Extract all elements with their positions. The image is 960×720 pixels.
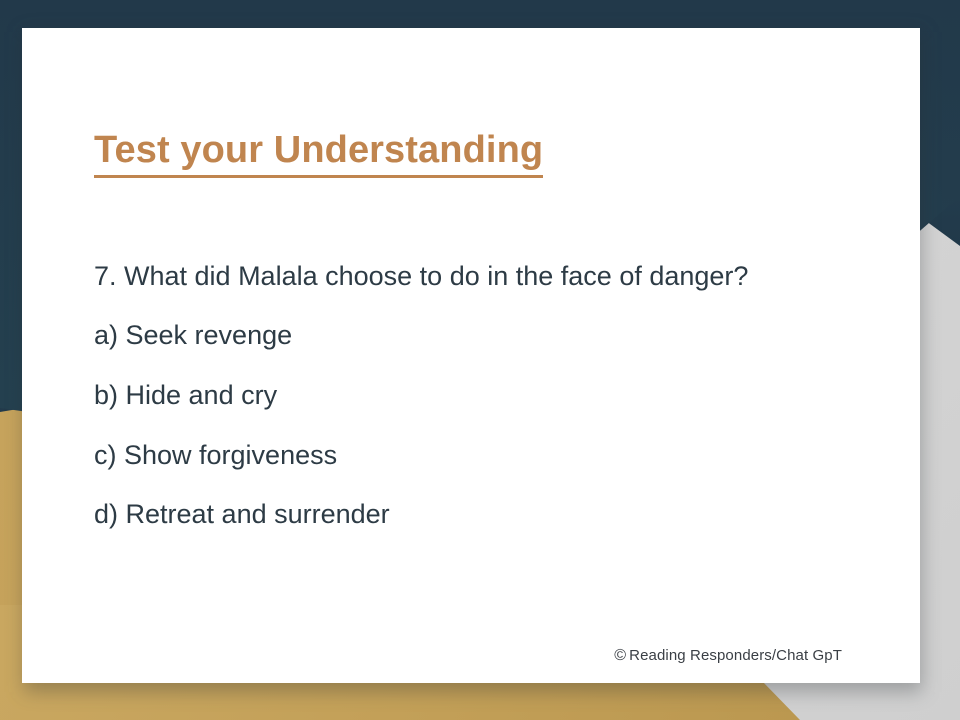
option-c[interactable]: c) Show forgiveness [94, 426, 794, 486]
credit-text: Reading Responders/Chat GpT [629, 647, 842, 664]
copyright-icon: © [614, 647, 626, 664]
question-block: 7. What did Malala choose to do in the f… [94, 256, 794, 545]
slide-title: Test your Understanding [94, 128, 543, 178]
option-b[interactable]: b) Hide and cry [94, 366, 794, 426]
credit-line: ©Reading Responders/Chat GpT [614, 647, 842, 665]
option-d[interactable]: d) Retreat and surrender [94, 485, 794, 545]
option-a[interactable]: a) Seek revenge [94, 306, 794, 366]
card-inner: Test your Understanding 7. What did Mala… [22, 28, 920, 683]
content-card: Test your Understanding 7. What did Mala… [22, 28, 920, 683]
question-text: 7. What did Malala choose to do in the f… [94, 256, 754, 298]
slide: Test your Understanding 7. What did Mala… [0, 0, 960, 720]
